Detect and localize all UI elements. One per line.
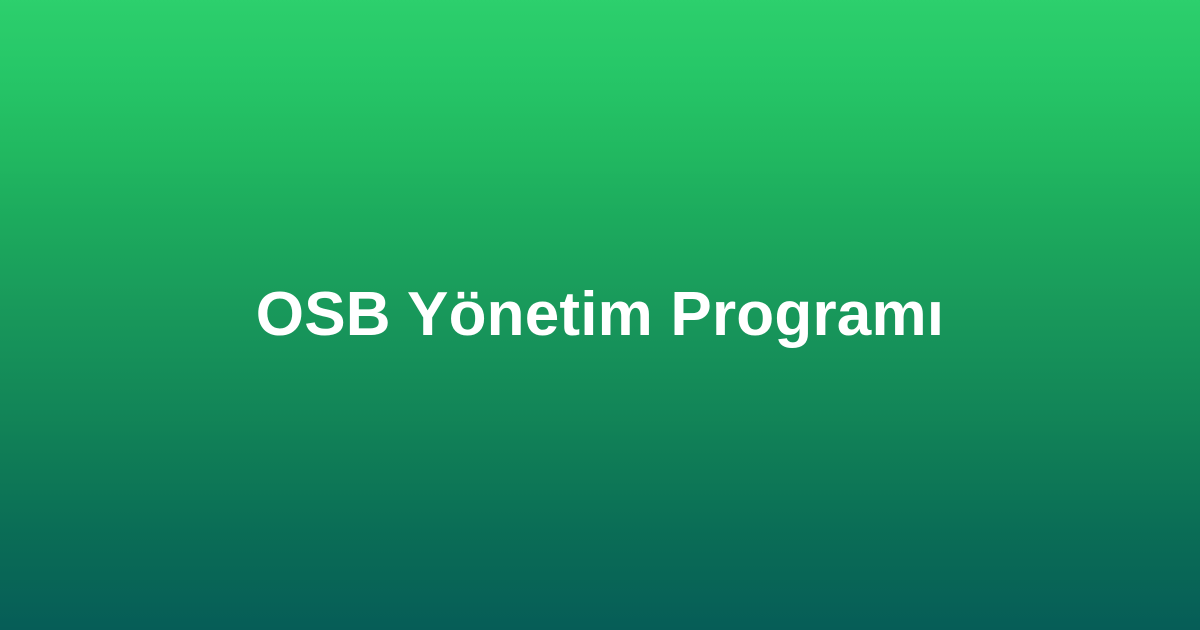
page-title: OSB Yönetim Programı (60, 280, 1140, 349)
og-preview-card: OSB Yönetim Programı (0, 0, 1200, 630)
card-content: OSB Yönetim Programı (0, 280, 1200, 349)
